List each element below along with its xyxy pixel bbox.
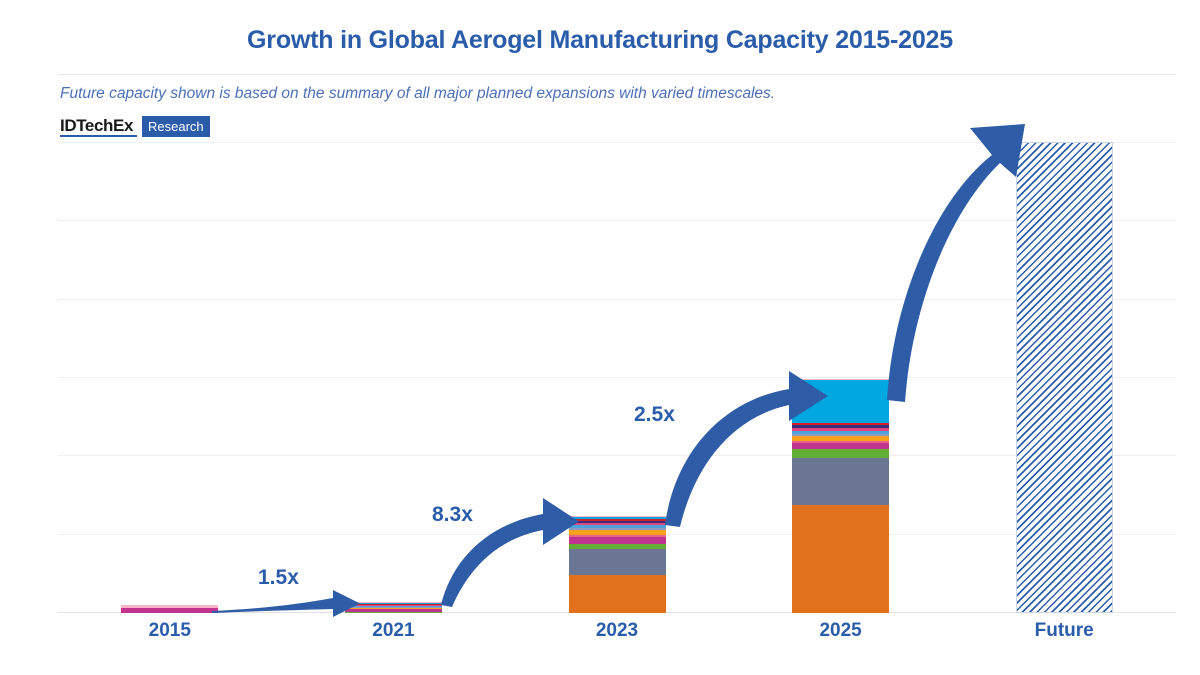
logo-research-badge: Research <box>142 116 210 137</box>
bar-2025[interactable] <box>792 379 889 613</box>
bar-future[interactable] <box>1016 142 1113 613</box>
bar-segment <box>345 612 442 613</box>
gridline <box>58 455 1176 456</box>
idtechex-logo: IDTechEx Research <box>60 116 210 137</box>
x-axis-label-2021: 2021 <box>313 620 473 642</box>
bar-2023[interactable] <box>569 516 666 613</box>
chart-title: Growth in Global Aerogel Manufacturing C… <box>0 26 1200 55</box>
growth-label-2: 8.3x <box>432 503 473 527</box>
bar-2015[interactable] <box>121 605 218 613</box>
x-axis-label-2025: 2025 <box>761 620 921 642</box>
bar-segment <box>792 380 889 422</box>
chart-subtitle: Future capacity shown is based on the su… <box>60 85 775 103</box>
logo-wordmark: IDTechEx <box>60 116 137 137</box>
bar-segment <box>569 575 666 613</box>
x-axis-label-future: Future <box>984 620 1144 642</box>
gridline <box>58 377 1176 378</box>
gridline <box>58 299 1176 300</box>
chart-container: Growth in Global Aerogel Manufacturing C… <box>0 0 1200 675</box>
bar-segment <box>121 608 218 613</box>
bar-segment <box>569 549 666 575</box>
x-axis-label-2023: 2023 <box>537 620 697 642</box>
bar-segment <box>792 505 889 613</box>
growth-label-3: 2.5x <box>634 403 675 427</box>
bar-segment <box>792 449 889 458</box>
title-divider <box>58 74 1176 75</box>
x-axis-label-2015: 2015 <box>90 620 250 642</box>
growth-label-1: 1.5x <box>258 566 299 590</box>
bar-2021[interactable] <box>345 602 442 613</box>
bar-segment <box>569 537 666 544</box>
bar-segment <box>792 458 889 505</box>
gridline <box>58 142 1176 143</box>
gridline <box>58 220 1176 221</box>
plot-area <box>58 142 1176 613</box>
